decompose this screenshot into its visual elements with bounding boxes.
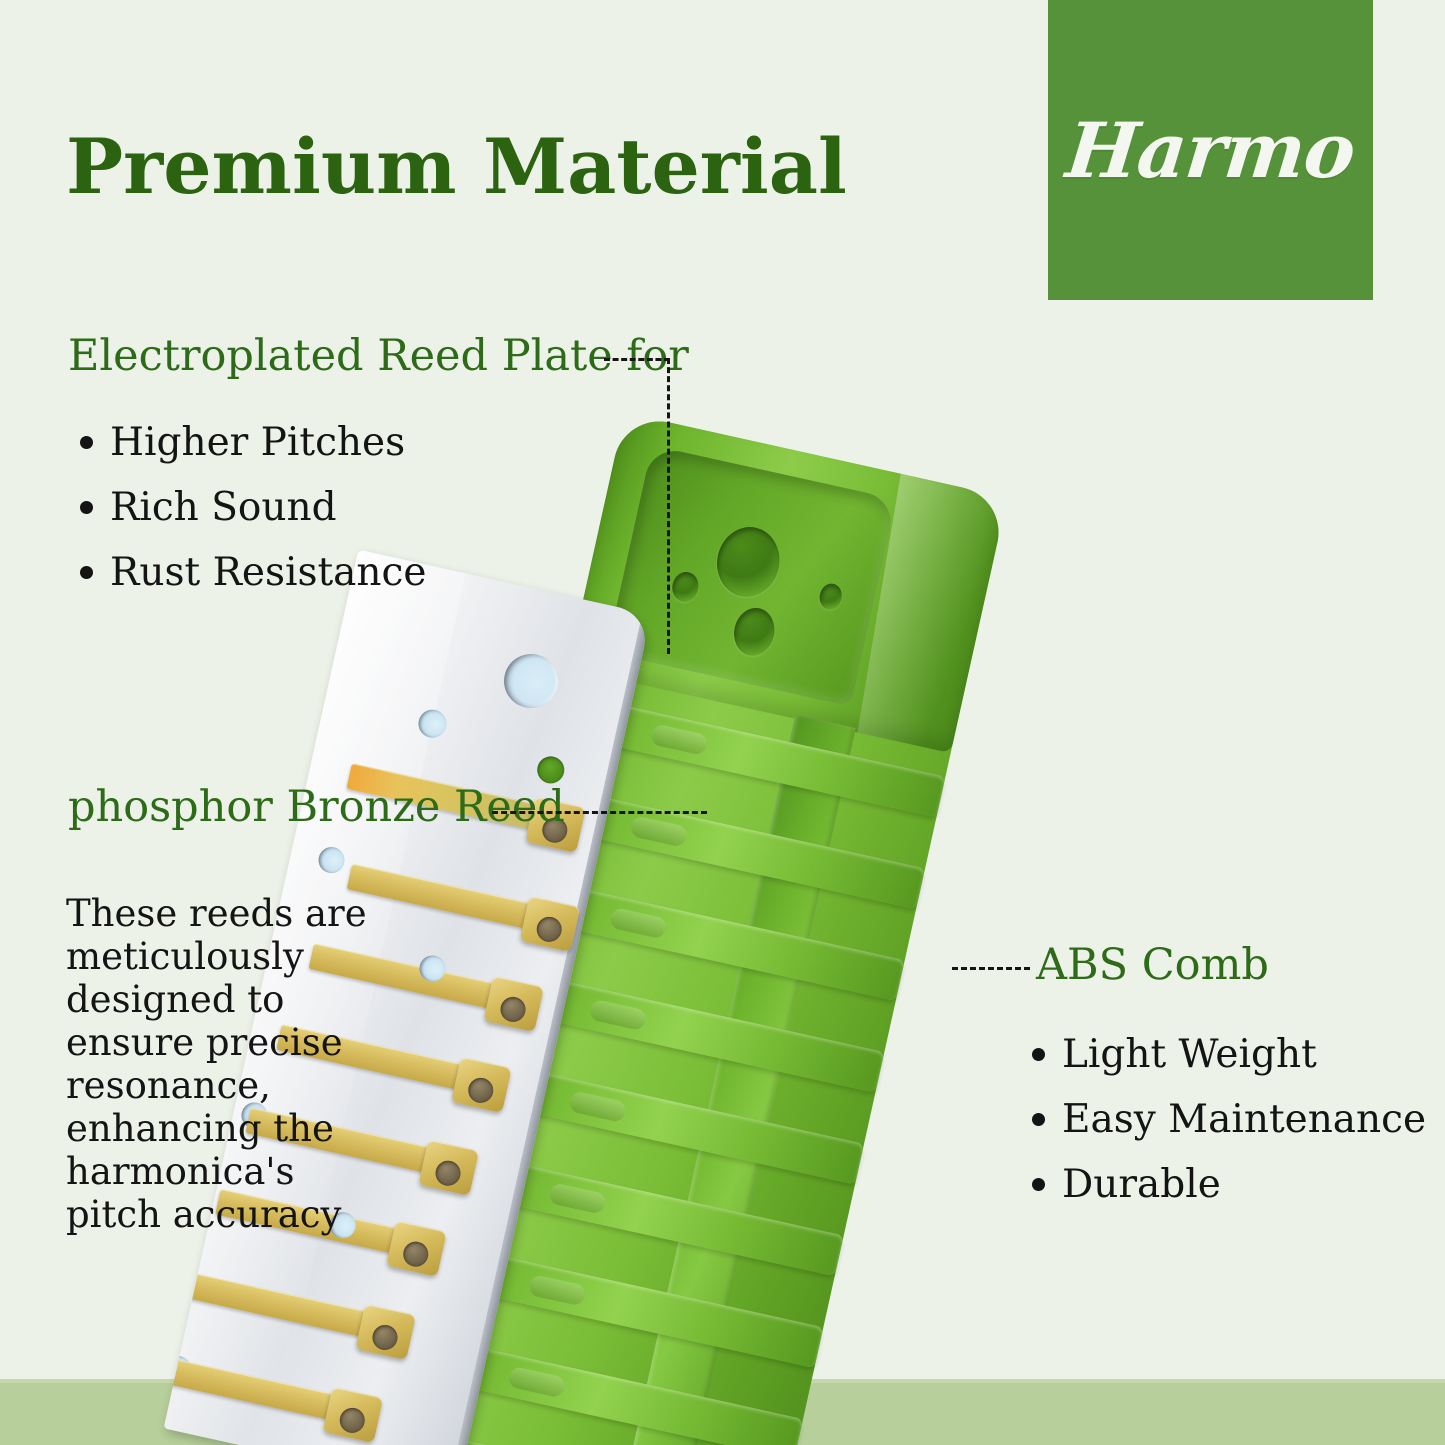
list-item-label: Durable: [1062, 1165, 1221, 1204]
bullet-dot-icon: [80, 436, 93, 449]
bullet-dot-icon: [80, 566, 93, 579]
list-item: Rich Sound: [80, 488, 689, 527]
list-item-label: Rust Resistance: [110, 553, 426, 592]
list-item: Durable: [1032, 1165, 1426, 1204]
abs-comb-benefit-list: Light Weight Easy Maintenance Durable: [1032, 1035, 1426, 1204]
list-item: Easy Maintenance: [1032, 1100, 1426, 1139]
bullet-dot-icon: [80, 501, 93, 514]
leader-line-bronze-reed: [492, 811, 707, 814]
callout-abs-comb-heading: ABS Comb: [1036, 944, 1426, 987]
leader-line-reed-plate-vertical: [667, 358, 670, 654]
reed-plate-benefit-list: Higher Pitches Rich Sound Rust Resistanc…: [80, 423, 689, 592]
bullet-dot-icon: [1032, 1048, 1045, 1061]
callout-abs-comb: ABS Comb Light Weight Easy Maintenance D…: [1036, 944, 1426, 1230]
list-item-label: Higher Pitches: [110, 423, 405, 462]
comb-screw-boss: [710, 521, 786, 603]
bullet-dot-icon: [1032, 1113, 1045, 1126]
callout-bronze-reed-body: These reeds are meticulously designed to…: [66, 892, 396, 1236]
list-item-label: Rich Sound: [110, 488, 337, 527]
list-item-label: Easy Maintenance: [1062, 1100, 1426, 1139]
callout-bronze-reed: phosphor Bronze Reed: [68, 786, 565, 829]
callout-reed-plate-heading: Electroplated Reed Plate for: [68, 335, 689, 378]
leader-line-reed-plate-horizontal: [604, 358, 670, 361]
comb-screw-boss: [730, 604, 779, 660]
brand-logo-text: Harmo: [1062, 106, 1359, 195]
bullet-dot-icon: [1032, 1178, 1045, 1191]
list-item: Light Weight: [1032, 1035, 1426, 1074]
list-item: Higher Pitches: [80, 423, 689, 462]
infographic-canvas: Harmo Premium Material Electroplated Ree…: [0, 0, 1445, 1445]
leader-line-abs-comb: [952, 967, 1030, 970]
list-item: Rust Resistance: [80, 553, 689, 592]
plate-screw-hole: [499, 649, 563, 713]
page-title: Premium Material: [66, 129, 847, 205]
comb-screw-boss: [817, 581, 844, 611]
callout-reed-plate: Electroplated Reed Plate for Higher Pitc…: [68, 335, 689, 618]
brand-logo: Harmo: [1048, 0, 1373, 300]
list-item-label: Light Weight: [1062, 1035, 1317, 1074]
callout-bronze-reed-heading: phosphor Bronze Reed: [68, 786, 565, 829]
